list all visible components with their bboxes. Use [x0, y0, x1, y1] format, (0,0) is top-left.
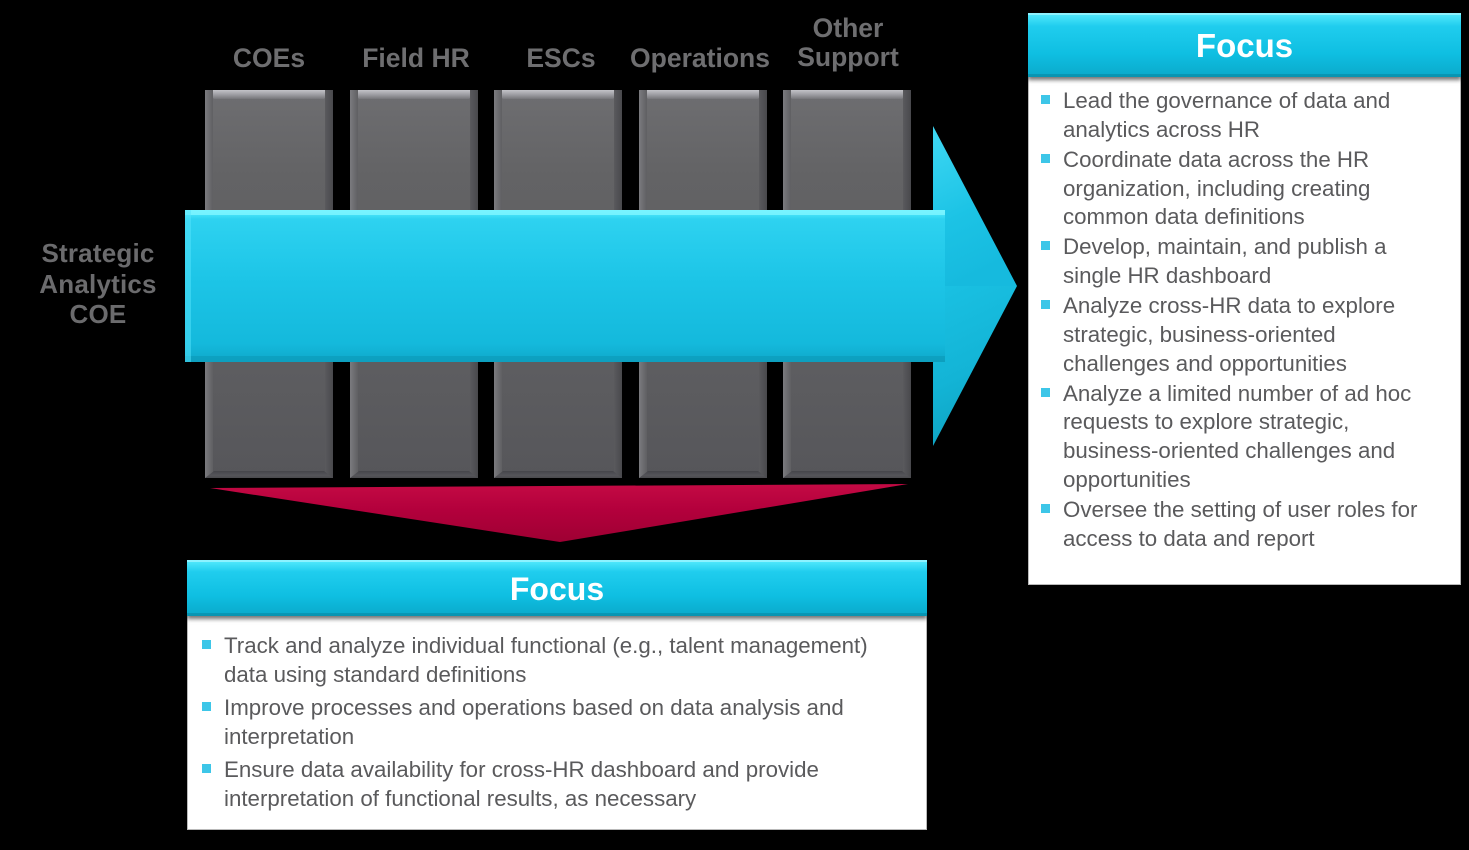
- focus-panel-bottom-body: Track and analyze individual functional …: [187, 616, 927, 830]
- list-item: Oversee the setting of user roles for ac…: [1033, 496, 1448, 554]
- focus-bottom-bullet-list: Track and analyze individual functional …: [194, 632, 912, 814]
- focus-panel-right-body: Lead the governance of data and analytic…: [1028, 77, 1461, 585]
- downward-feedback-arrow-icon: [210, 484, 908, 546]
- focus-panel-bottom-title: Focus: [187, 560, 927, 616]
- column-header-operations: Operations: [620, 44, 780, 73]
- focus-panel-bottom: Focus Track and analyze individual funct…: [187, 560, 927, 830]
- focus-right-bullet-list: Lead the governance of data and analytic…: [1033, 87, 1448, 554]
- column-header-coes: COEs: [205, 44, 333, 73]
- list-item: Coordinate data across the HR organizati…: [1033, 146, 1448, 233]
- list-item: Lead the governance of data and analytic…: [1033, 87, 1448, 145]
- focus-panel-right-title: Focus: [1028, 13, 1461, 77]
- horizontal-process-arrow-icon: [185, 126, 1017, 446]
- list-item: Analyze cross-HR data to explore strateg…: [1033, 292, 1448, 379]
- list-item: Improve processes and operations based o…: [194, 694, 912, 752]
- list-item: Track and analyze individual functional …: [194, 632, 912, 690]
- column-header-field-hr: Field HR: [352, 44, 480, 73]
- column-header-other-support: Other Support: [783, 14, 913, 71]
- column-header-escs: ESCs: [497, 44, 625, 73]
- diagram-canvas: Strategic Analytics COE COEs Field HR ES…: [0, 0, 1469, 850]
- list-item: Analyze a limited number of ad hoc reque…: [1033, 380, 1448, 495]
- strategic-analytics-coe-label: Strategic Analytics COE: [8, 238, 188, 330]
- list-item: Ensure data availability for cross-HR da…: [194, 756, 912, 814]
- focus-panel-right: Focus Lead the governance of data and an…: [1028, 13, 1461, 585]
- list-item: Develop, maintain, and publish a single …: [1033, 233, 1448, 291]
